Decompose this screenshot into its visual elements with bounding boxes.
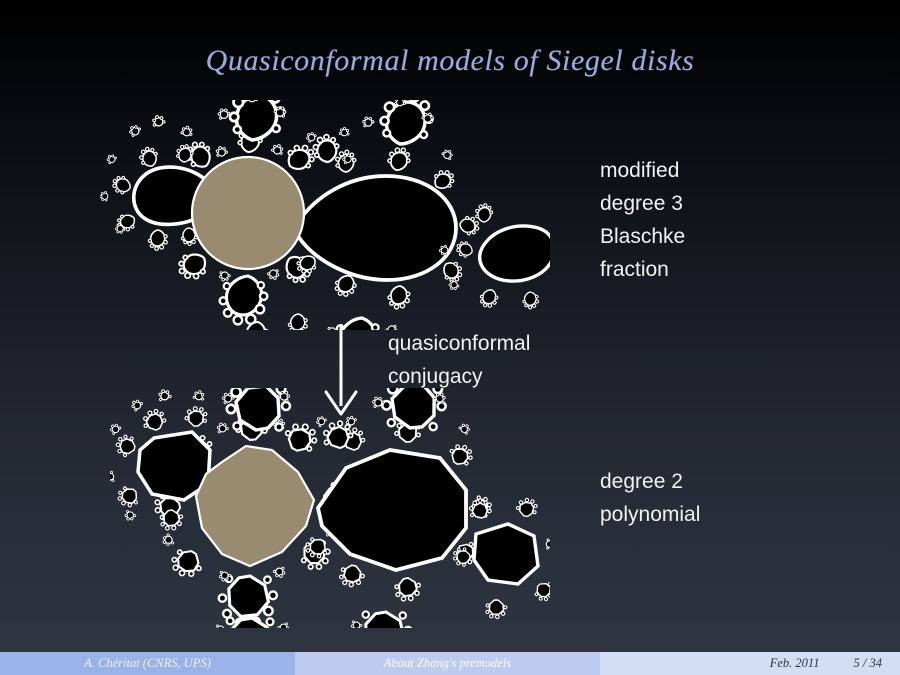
- julia-set-polynomial: [110, 388, 550, 628]
- page-title: Quasiconformal models of Siegel disks: [0, 44, 900, 78]
- top-spike-bulb: [220, 388, 292, 431]
- julia-set-blaschke: [100, 100, 550, 330]
- footer-date: Feb. 2011: [770, 656, 820, 671]
- siegel-disk-bottom: [196, 446, 314, 566]
- fractal-figure-top: [100, 100, 550, 330]
- footer-page-number: 5 / 34: [854, 656, 882, 671]
- slide-footer: A. Chéritat (CNRS, UPS) About Zhang's pr…: [0, 652, 900, 675]
- upper-right-bulb-cluster: [344, 388, 472, 435]
- down-arrow-icon: [320, 322, 362, 418]
- footer-author: A. Chéritat (CNRS, UPS): [0, 652, 295, 675]
- top-spike-bulb: [216, 100, 288, 140]
- annotation-conjugacy-label: quasiconformal conjugacy: [388, 327, 530, 393]
- presentation-slide: Quasiconformal models of Siegel disks: [0, 0, 900, 675]
- fractal-figure-bottom: [110, 388, 550, 628]
- annotation-bottom-caption: degree 2 polynomial: [600, 465, 700, 531]
- footer-subject: About Zhang's premodels: [295, 652, 600, 675]
- annotation-top-caption: modified degree 3 Blaschke fraction: [600, 154, 685, 286]
- footer-meta: Feb. 2011 5 / 34: [600, 652, 900, 675]
- main-black-lobe: [302, 419, 491, 602]
- siegel-disk-top: [192, 157, 304, 269]
